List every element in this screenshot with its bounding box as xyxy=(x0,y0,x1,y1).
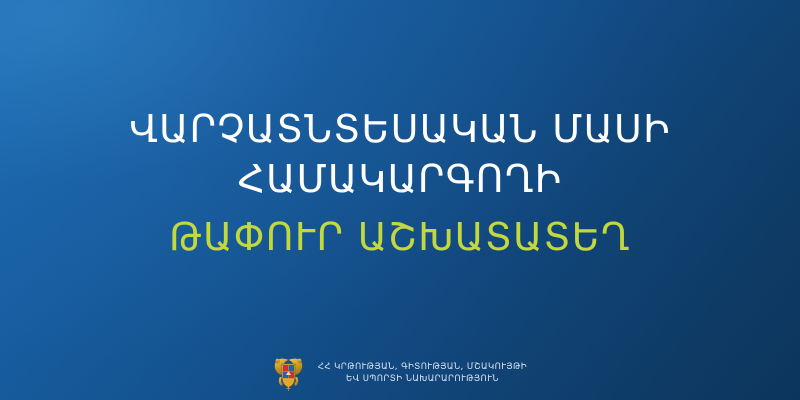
ministry-lockup: ՀՀ ԿՐԹՈՒԹՅԱՆ, ԳԻՏՈՒԹՅԱՆ, ՄՇԱԿՈՒՅԹԻ ԵՎ ՍՊ… xyxy=(0,355,800,392)
ministry-name-line-1: ՀՀ ԿՐԹՈՒԹՅԱՆ, ԳԻՏՈՒԹՅԱՆ, ՄՇԱԿՈՒՅԹԻ xyxy=(318,362,527,373)
headline-line-1: ՎԱՐՉԱՏՆՏԵՍԱԿԱՆ ՄԱՍԻ xyxy=(0,104,800,154)
ministry-name-line-2: ԵՎ ՍՊՈՐՏԻ ՆԱԽԱՐԱՐՈՒԹՅՈՒՆ xyxy=(346,374,499,385)
headline-line-2: ՀԱՄԱԿԱՐԳՈՂԻ xyxy=(0,154,800,204)
vacancy-announcement-banner: ՎԱՐՉԱՏՆՏԵՍԱԿԱՆ ՄԱՍԻ ՀԱՄԱԿԱՐԳՈՂԻ ԹԱՓՈՒՐ Ա… xyxy=(0,0,800,400)
ministry-name: ՀՀ ԿՐԹՈՒԹՅԱՆ, ԳԻՏՈՒԹՅԱՆ, ՄՇԱԿՈՒՅԹԻ ԵՎ ՍՊ… xyxy=(318,362,527,385)
armenia-coat-of-arms-emblem xyxy=(273,355,304,392)
headline-block: ՎԱՐՉԱՏՆՏԵՍԱԿԱՆ ՄԱՍԻ ՀԱՄԱԿԱՐԳՈՂԻ ԹԱՓՈՒՐ Ա… xyxy=(0,104,800,262)
headline-line-3-accent: ԹԱՓՈՒՐ ԱՇԽԱՏԱՏԵՂ xyxy=(0,212,800,262)
